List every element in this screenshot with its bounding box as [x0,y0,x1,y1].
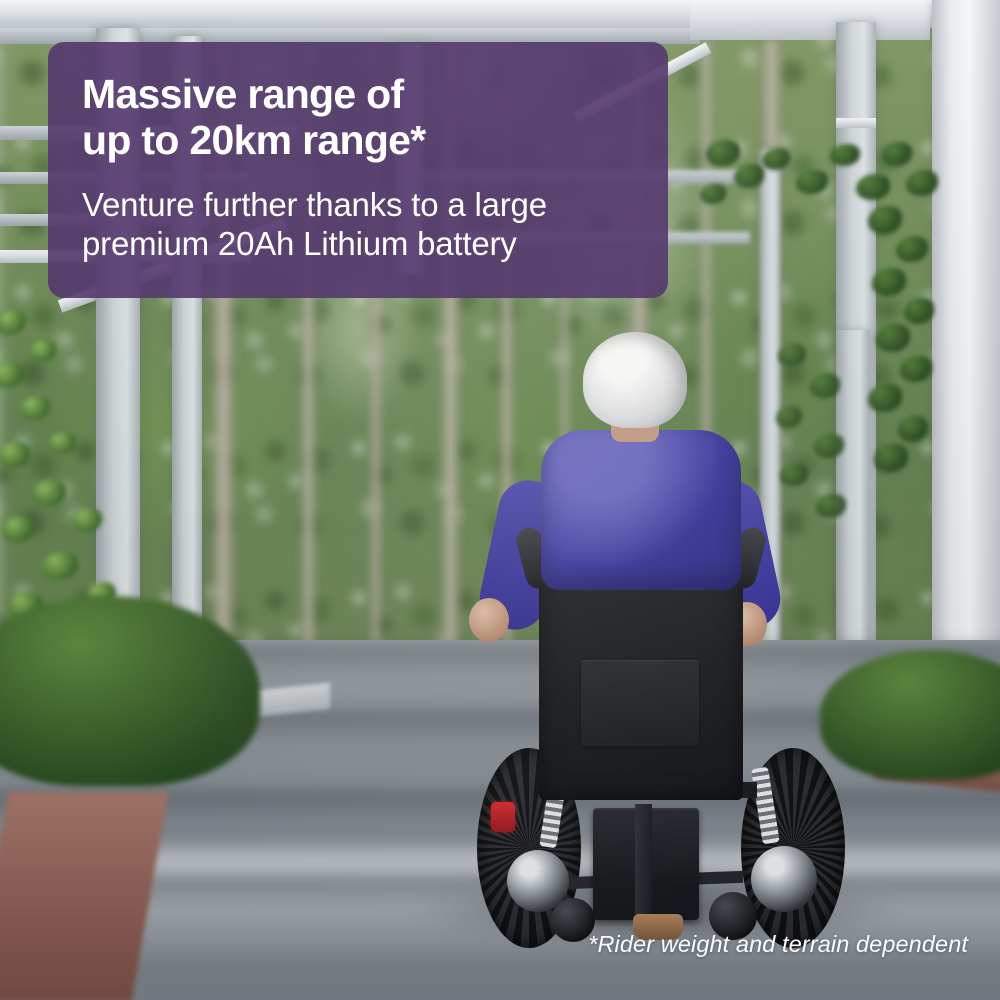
rider-hand-left [469,598,509,642]
backrest-pocket [581,660,699,746]
rider-torso [541,430,741,590]
wheel-reflector [491,802,515,832]
vine-top-right [700,24,960,324]
hub-motor-left [507,850,569,912]
battery-strap [635,804,652,922]
callout-subheading: Venture further thanks to a large premiu… [82,186,634,264]
feature-callout-card: Massive range of up to 20km range* Ventu… [48,42,668,298]
disclaimer-footnote: *Rider weight and terrain dependent [588,931,968,958]
callout-heading: Massive range of up to 20km range* [82,72,634,164]
hub-motor-right [751,846,817,912]
product-feature-banner: Massive range of up to 20km range* Ventu… [0,0,1000,1000]
rider-head [583,332,687,428]
rider-in-electric-wheelchair [455,330,875,930]
